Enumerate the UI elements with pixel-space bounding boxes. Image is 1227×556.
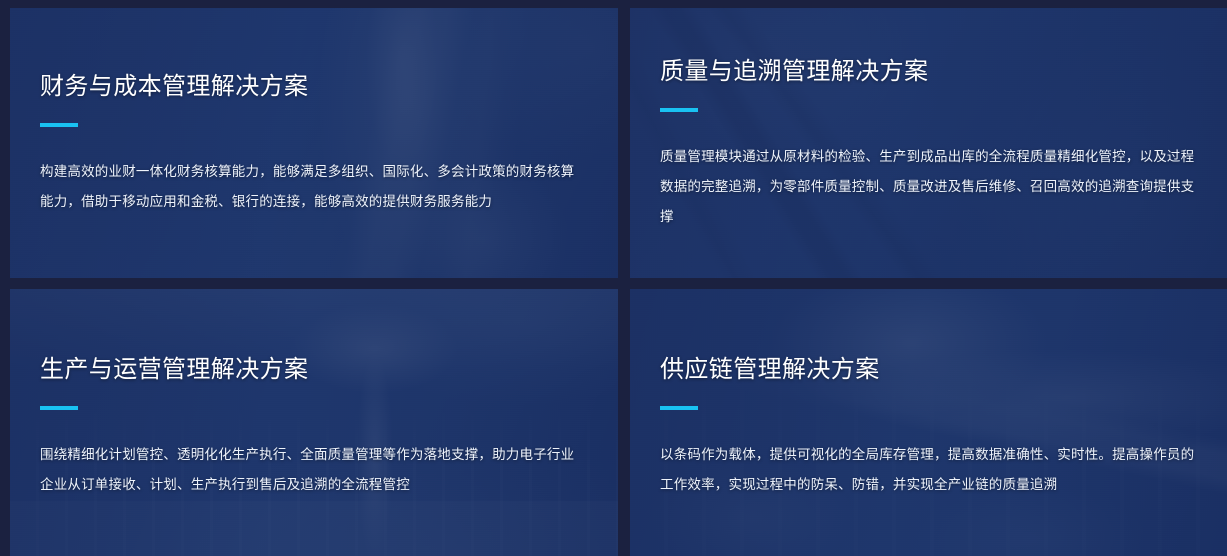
accent-bar: [660, 406, 698, 410]
card-title: 财务与成本管理解决方案: [40, 73, 578, 102]
solutions-grid: 财务与成本管理解决方案 构建高效的业财一体化财务核算能力，能够满足多组织、国际化…: [0, 0, 1227, 556]
card-content: 生产与运营管理解决方案 围绕精细化计划管控、透明化化生产执行、全面质量管理等作为…: [10, 289, 618, 556]
card-title: 供应链管理解决方案: [660, 356, 1197, 385]
accent-bar: [40, 123, 78, 127]
card-description: 构建高效的业财一体化财务核算能力，能够满足多组织、国际化、多会计政策的财务核算能…: [40, 157, 578, 217]
card-description: 以条码作为载体，提供可视化的全局库存管理，提高数据准确性、实时性。提高操作员的工…: [660, 440, 1197, 500]
card-content: 供应链管理解决方案 以条码作为载体，提供可视化的全局库存管理，提高数据准确性、实…: [630, 289, 1227, 556]
card-description: 质量管理模块通过从原材料的检验、生产到成品出库的全流程质量精细化管控，以及过程数…: [660, 142, 1197, 232]
accent-bar: [40, 406, 78, 410]
accent-bar: [660, 108, 698, 112]
solution-card-supply-chain[interactable]: 供应链管理解决方案 以条码作为载体，提供可视化的全局库存管理，提高数据准确性、实…: [630, 289, 1227, 556]
card-content: 财务与成本管理解决方案 构建高效的业财一体化财务核算能力，能够满足多组织、国际化…: [10, 8, 618, 278]
card-description: 围绕精细化计划管控、透明化化生产执行、全面质量管理等作为落地支撑，助力电子行业企…: [40, 440, 578, 500]
card-title: 质量与追溯管理解决方案: [660, 58, 1197, 87]
solution-card-finance-cost[interactable]: 财务与成本管理解决方案 构建高效的业财一体化财务核算能力，能够满足多组织、国际化…: [10, 8, 618, 278]
card-title: 生产与运营管理解决方案: [40, 356, 578, 385]
card-content: 质量与追溯管理解决方案 质量管理模块通过从原材料的检验、生产到成品出库的全流程质…: [630, 8, 1227, 278]
solution-card-production-operations[interactable]: 生产与运营管理解决方案 围绕精细化计划管控、透明化化生产执行、全面质量管理等作为…: [10, 289, 618, 556]
solution-card-quality-traceability[interactable]: 质量与追溯管理解决方案 质量管理模块通过从原材料的检验、生产到成品出库的全流程质…: [630, 8, 1227, 278]
